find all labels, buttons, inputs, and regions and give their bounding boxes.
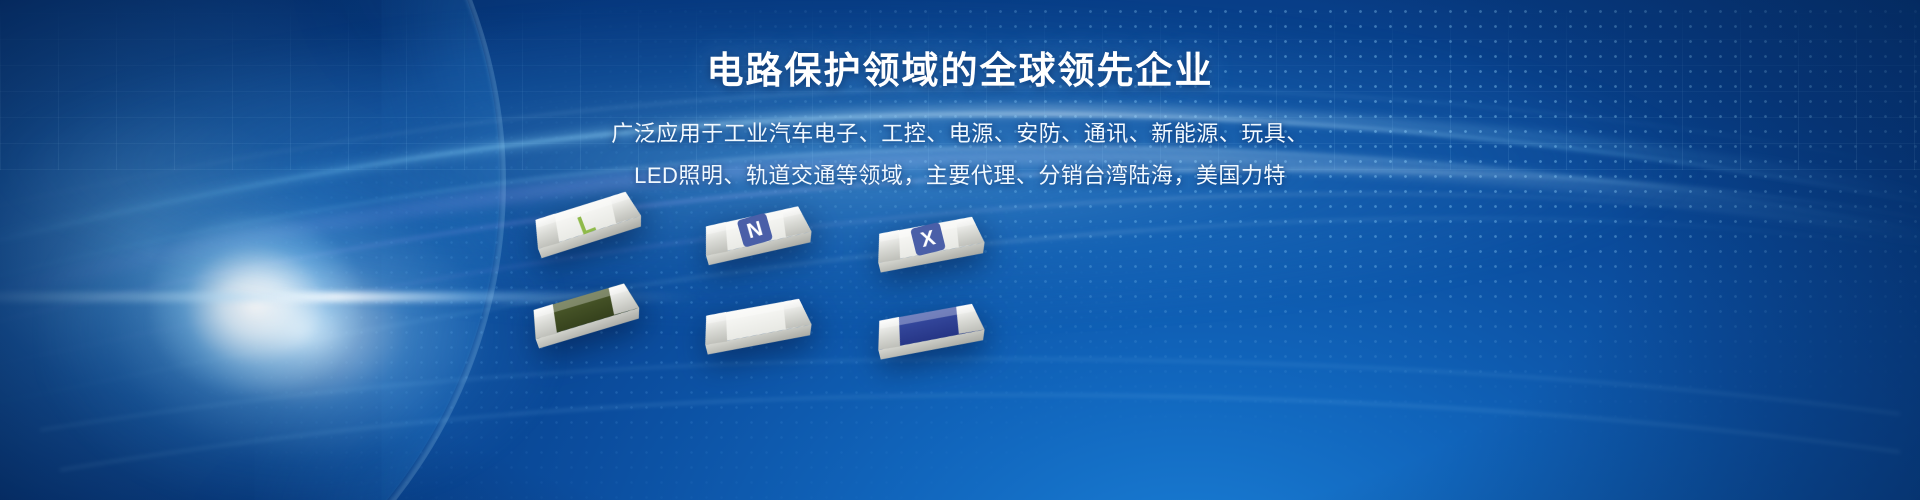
chip-fuse-green bbox=[522, 269, 646, 358]
chip-fuse-x: X bbox=[868, 203, 990, 282]
chip-fuse-navy bbox=[868, 290, 990, 369]
chip-fuse-l: L bbox=[524, 178, 648, 269]
chip-fuse-n: N bbox=[695, 193, 818, 276]
hero-banner: 电路保护领域的全球领先企业 广泛应用于工业汽车电子、工控、电源、安防、通讯、新能… bbox=[0, 0, 1920, 500]
product-showcase: LNX bbox=[0, 0, 1920, 500]
chip-fuse-plain bbox=[695, 285, 817, 364]
